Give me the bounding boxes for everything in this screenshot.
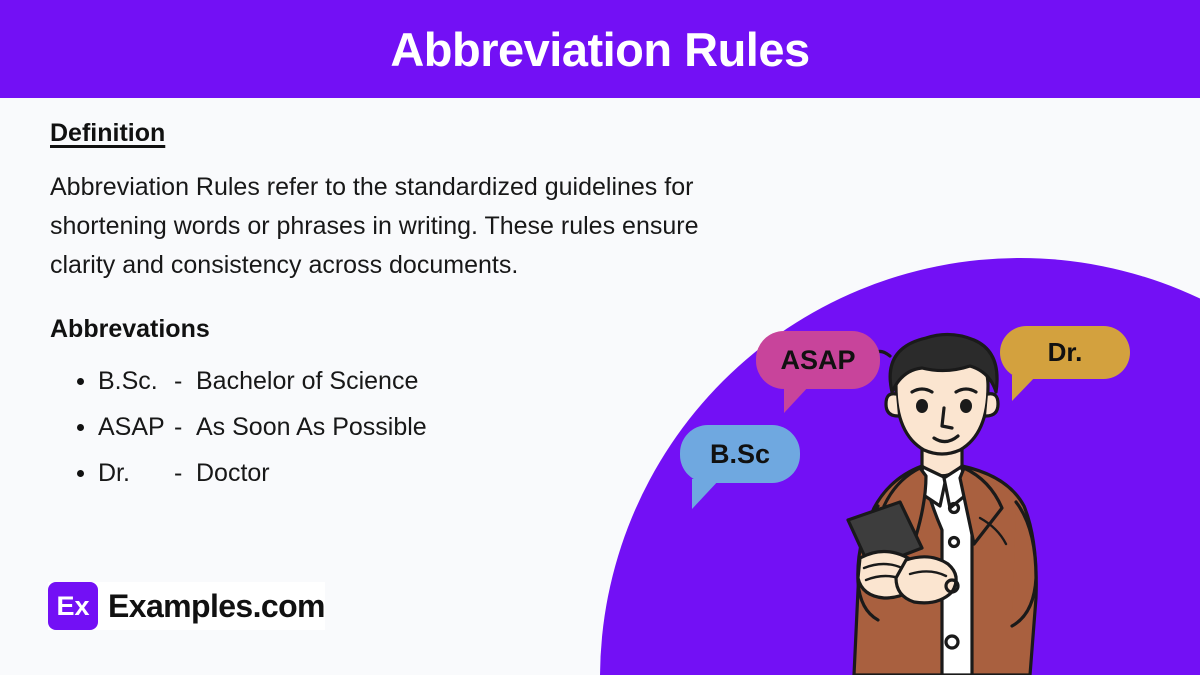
brand-logo[interactable]: Ex Examples.com (48, 582, 325, 630)
abbreviation-expansion: Doctor (196, 450, 270, 496)
bullet-icon (77, 378, 84, 385)
abbreviation-separator: - (174, 450, 196, 496)
speech-bubble-bsc-tail (692, 479, 720, 509)
speech-bubble-asap-tail (784, 385, 810, 413)
list-item: Dr. - Doctor (50, 450, 740, 496)
page-title: Abbreviation Rules (390, 26, 809, 73)
list-item: ASAP - As Soon As Possible (50, 404, 740, 450)
infographic-page: Abbreviation Rules (0, 0, 1200, 675)
bullet-icon (77, 470, 84, 477)
speech-bubble-dr-body: Dr. (1000, 326, 1130, 379)
abbreviation-short: B.Sc. (98, 358, 174, 404)
speech-bubble-bsc-label: B.Sc (710, 439, 770, 470)
list-item: B.Sc. - Bachelor of Science (50, 358, 740, 404)
content-column: Definition Abbreviation Rules refer to t… (50, 118, 740, 496)
abbreviation-expansion: Bachelor of Science (196, 358, 418, 404)
abbreviation-separator: - (174, 404, 196, 450)
speech-bubble-dr: Dr. (1000, 326, 1130, 379)
abbreviations-heading: Abbrevations (50, 314, 740, 344)
abbreviations-list: B.Sc. - Bachelor of Science ASAP - As So… (50, 358, 740, 496)
speech-bubble-bsc-body: B.Sc (680, 425, 800, 483)
speech-bubble-asap: ASAP (756, 331, 880, 389)
speech-bubble-asap-label: ASAP (780, 345, 855, 376)
speech-bubble-bsc: B.Sc (680, 425, 800, 483)
definition-heading: Definition (50, 118, 740, 148)
bullet-icon (77, 424, 84, 431)
abbreviation-short: Dr. (98, 450, 174, 496)
abbreviation-expansion: As Soon As Possible (196, 404, 427, 450)
speech-bubble-dr-label: Dr. (1048, 337, 1083, 368)
logo-mark-icon: Ex (48, 582, 98, 630)
logo-wordmark: Examples.com (108, 588, 325, 625)
header-bar: Abbreviation Rules (0, 0, 1200, 98)
definition-body-text: Abbreviation Rules refer to the standard… (50, 168, 720, 285)
speech-bubble-dr-tail (1012, 375, 1037, 401)
speech-bubble-asap-body: ASAP (756, 331, 880, 389)
abbreviation-separator: - (174, 358, 196, 404)
abbreviation-short: ASAP (98, 404, 174, 450)
